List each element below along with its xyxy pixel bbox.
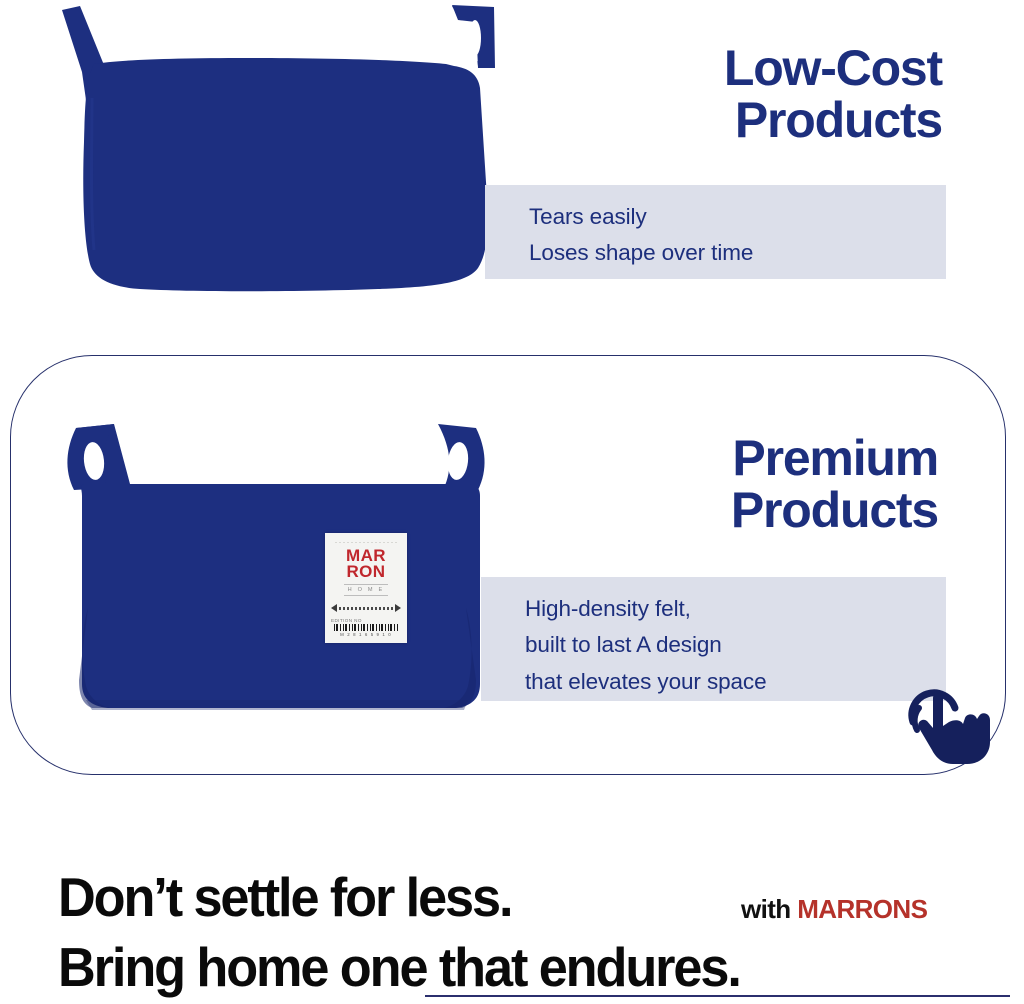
premium-basket-image <box>52 418 502 748</box>
promo-infographic: MAR RON H O M E EDITION NO M 2 8 1 6 5 9… <box>0 0 1024 1004</box>
with-brand-line: with MARRONS <box>741 894 927 925</box>
label-sub-text: H O M E <box>344 584 389 596</box>
tap-hand-cursor-icon[interactable] <box>903 678 995 766</box>
label-top-bars <box>335 542 397 543</box>
label-edition-text: EDITION NO <box>331 618 362 623</box>
premium-heading: Premium Products <box>518 432 938 536</box>
low-cost-heading: Low-Cost Products <box>522 42 942 146</box>
dotted-line <box>339 607 393 610</box>
low-cost-basket-image <box>48 2 508 312</box>
premium-caption: High-density felt, built to last A desig… <box>481 577 946 701</box>
left-triangle-icon <box>331 604 337 612</box>
barcode-icon <box>334 624 398 631</box>
product-brand-label: MAR RON H O M E EDITION NO M 2 8 1 6 5 9… <box>325 533 407 643</box>
slogan-underline <box>425 995 1010 997</box>
with-prefix: with <box>741 894 797 924</box>
with-brand-name: MARRONS <box>797 894 927 924</box>
tap-hand-cursor-svg <box>903 678 995 766</box>
right-triangle-icon <box>395 604 401 612</box>
label-divider-arrows <box>331 604 401 612</box>
label-brand-line2: RON <box>347 564 386 580</box>
bottom-slogan: Don’t settle for less. Bring home one th… <box>58 862 942 1003</box>
low-cost-caption: Tears easily Loses shape over time <box>485 185 946 279</box>
premium-basket-svg <box>52 418 502 748</box>
low-cost-basket-svg <box>48 2 508 312</box>
barcode-number: M 2 8 1 6 5 9 1 0 <box>340 632 392 637</box>
